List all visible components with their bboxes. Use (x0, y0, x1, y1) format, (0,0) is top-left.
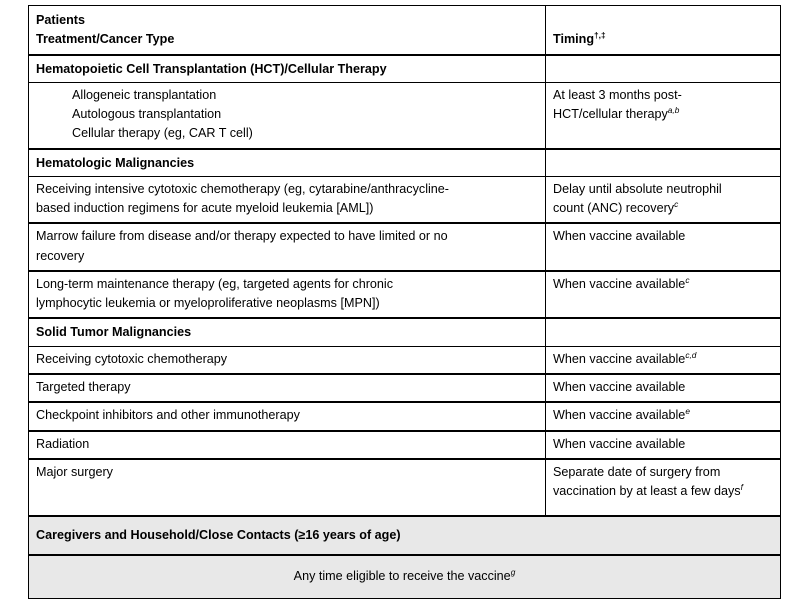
row-label-marrow-failure: Marrow failure from disease and/or thera… (29, 223, 546, 271)
timing-text: count (ANC) recovery (553, 201, 674, 215)
timing-text: When vaccine available (553, 352, 685, 366)
footer-text: Any time eligible to receive the vaccine (294, 569, 511, 583)
row-line: Allogeneic transplantation (36, 86, 538, 105)
header-line-treatment: Treatment/Cancer Type (36, 30, 538, 49)
timing-superscript: c (674, 199, 678, 209)
section-header-caregivers: Caregivers and Household/Close Contacts … (29, 516, 781, 555)
timing-line: HCT/cellular therapya,b (553, 105, 773, 124)
timing-superscript: a,b (668, 105, 680, 115)
table-row: Long-term maintenance therapy (eg, targe… (29, 271, 781, 319)
table-row: Marrow failure from disease and/or thera… (29, 223, 781, 271)
timing-line: vaccination by at least a few daysf (553, 482, 773, 501)
vaccination-timing-table: Patients Treatment/Cancer Type Timing†,‡… (28, 5, 781, 599)
row-timing-marrow-failure: When vaccine available (546, 223, 781, 271)
timing-text: When vaccine available (553, 277, 685, 291)
timing-line: Delay until absolute neutrophil (553, 180, 773, 199)
timing-text: When vaccine available (553, 408, 685, 422)
row-timing-radiation: When vaccine available (546, 431, 781, 459)
row-line: Long-term maintenance therapy (eg, targe… (36, 275, 538, 294)
row-label-intensive-chemo: Receiving intensive cytotoxic chemothera… (29, 176, 546, 223)
timing-superscript: c,d (685, 350, 696, 360)
timing-line: At least 3 months post- (553, 86, 773, 105)
section-timing-solid-tumor (546, 318, 781, 346)
row-timing-cytotoxic-chemo: When vaccine availablec,d (546, 346, 781, 374)
timing-line: Separate date of surgery from (553, 463, 773, 482)
timing-text: vaccination by at least a few days (553, 484, 741, 498)
row-timing-targeted-therapy: When vaccine available (546, 374, 781, 402)
table-row: Receiving cytotoxic chemotherapy When va… (29, 346, 781, 374)
row-line: Autologous transplantation (36, 105, 538, 124)
row-label-major-surgery: Major surgery (29, 459, 546, 516)
table-row: Receiving intensive cytotoxic chemothera… (29, 176, 781, 223)
row-timing-long-term-maintenance: When vaccine availablec (546, 271, 781, 319)
section-title-hematologic: Hematologic Malignancies (29, 149, 546, 177)
caregivers-band-label: Caregivers and Household/Close Contacts … (29, 516, 781, 555)
footer-row-any-time: Any time eligible to receive the vaccine… (29, 555, 781, 599)
row-label-targeted-therapy: Targeted therapy (29, 374, 546, 402)
row-timing-checkpoint-inhibitors: When vaccine availablee (546, 402, 781, 430)
row-line: lymphocytic leukemia or myeloproliferati… (36, 294, 538, 313)
row-timing-intensive-chemo: Delay until absolute neutrophil count (A… (546, 176, 781, 223)
timing-text: When vaccine available (553, 380, 685, 394)
section-timing-hct (546, 55, 781, 83)
row-line: Cellular therapy (eg, CAR T cell) (36, 124, 538, 143)
timing-superscript: f (741, 482, 743, 492)
row-line: Receiving intensive cytotoxic chemothera… (36, 180, 538, 199)
row-line: based induction regimens for acute myelo… (36, 199, 538, 218)
section-header-solid-tumor: Solid Tumor Malignancies (29, 318, 781, 346)
footer-cell: Any time eligible to receive the vaccine… (29, 555, 781, 599)
section-header-hematologic: Hematologic Malignancies (29, 149, 781, 177)
header-label-timing: Timing (553, 32, 594, 46)
section-header-hct: Hematopoietic Cell Transplantation (HCT)… (29, 55, 781, 83)
timing-line: When vaccine availablec (553, 275, 773, 294)
table-row: Targeted therapy When vaccine available (29, 374, 781, 402)
table-row: Checkpoint inhibitors and other immunoth… (29, 402, 781, 430)
footer-superscript: g (511, 567, 516, 577)
timing-superscript: e (685, 406, 690, 416)
timing-text: When vaccine available (553, 437, 685, 451)
timing-line: When vaccine available (553, 227, 773, 246)
row-label-checkpoint-inhibitors: Checkpoint inhibitors and other immunoth… (29, 402, 546, 430)
timing-superscript: c (685, 275, 689, 285)
row-label-hct-transplants: Allogeneic transplantation Autologous tr… (29, 82, 546, 148)
header-cell-timing: Timing†,‡ (546, 6, 781, 55)
section-title-hct: Hematopoietic Cell Transplantation (HCT)… (29, 55, 546, 83)
timing-text: HCT/cellular therapy (553, 107, 668, 121)
header-cell-patients: Patients Treatment/Cancer Type (29, 6, 546, 55)
header-line-patients: Patients (36, 11, 538, 30)
row-timing-hct-transplants: At least 3 months post- HCT/cellular the… (546, 82, 781, 148)
table-page: Patients Treatment/Cancer Type Timing†,‡… (0, 0, 800, 528)
row-line: Marrow failure from disease and/or thera… (36, 227, 538, 246)
section-timing-hematologic (546, 149, 781, 177)
table-row: Radiation When vaccine available (29, 431, 781, 459)
header-timing-superscript: †,‡ (594, 30, 606, 40)
row-timing-major-surgery: Separate date of surgery from vaccinatio… (546, 459, 781, 516)
table-row: Major surgery Separate date of surgery f… (29, 459, 781, 516)
section-title-solid-tumor: Solid Tumor Malignancies (29, 318, 546, 346)
timing-line: count (ANC) recoveryc (553, 199, 773, 218)
row-label-long-term-maintenance: Long-term maintenance therapy (eg, targe… (29, 271, 546, 319)
table-row: Allogeneic transplantation Autologous tr… (29, 82, 781, 148)
table-header-row: Patients Treatment/Cancer Type Timing†,‡ (29, 6, 781, 55)
row-line: recovery (36, 247, 538, 266)
row-label-radiation: Radiation (29, 431, 546, 459)
row-label-cytotoxic-chemo: Receiving cytotoxic chemotherapy (29, 346, 546, 374)
